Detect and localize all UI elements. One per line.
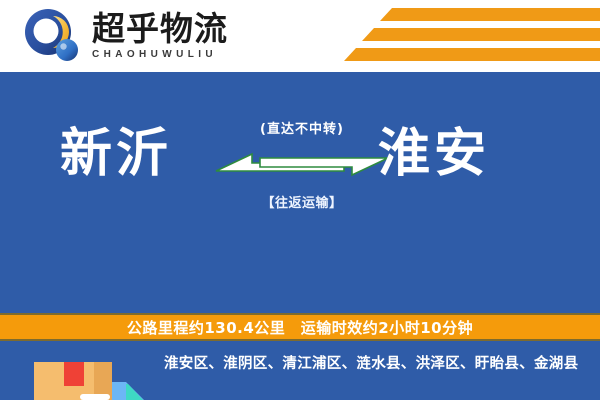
brand-text: 超乎物流 CHAOHUWULIU [92, 12, 228, 61]
coverage-districts: 淮安区、淮阴区、清江浦区、涟水县、洪泽区、盱眙县、金湖县 [164, 353, 582, 375]
route-row: 新沂 (直达不中转) 【往返运输】 淮安 [0, 100, 600, 240]
header: 超乎物流 CHAOHUWULIU [0, 0, 600, 72]
route-middle: (直达不中转) 【往返运输】 [222, 100, 382, 240]
origin-city: 新沂 [60, 128, 172, 180]
destination-city: 淮安 [378, 128, 490, 180]
main-panel: 新沂 (直达不中转) 【往返运输】 淮安 公路里程约130.4公里 运输时效约2… [0, 76, 600, 400]
brand-name: 超乎物流 [92, 12, 228, 47]
route-note-roundtrip: 【往返运输】 [222, 192, 382, 211]
brand-pinyin: CHAOHUWULIU [92, 49, 228, 60]
logistics-route-banner: 超乎物流 CHAOHUWULIU 新沂 (直达不中转) [0, 0, 600, 400]
route-note-direct: (直达不中转) [222, 118, 382, 137]
orange-slanted-stripes-icon [330, 8, 600, 66]
double-headed-arrow-icon [214, 144, 390, 186]
info-bar-text: 公路里程约130.4公里 运输时效约2小时10分钟 [127, 317, 473, 338]
brand-block: 超乎物流 CHAOHUWULIU [22, 6, 228, 66]
info-bar: 公路里程约130.4公里 运输时效约2小时10分钟 [0, 313, 600, 341]
delivery-truck-icon [22, 348, 162, 400]
circle-crescent-logo-icon [22, 7, 84, 65]
